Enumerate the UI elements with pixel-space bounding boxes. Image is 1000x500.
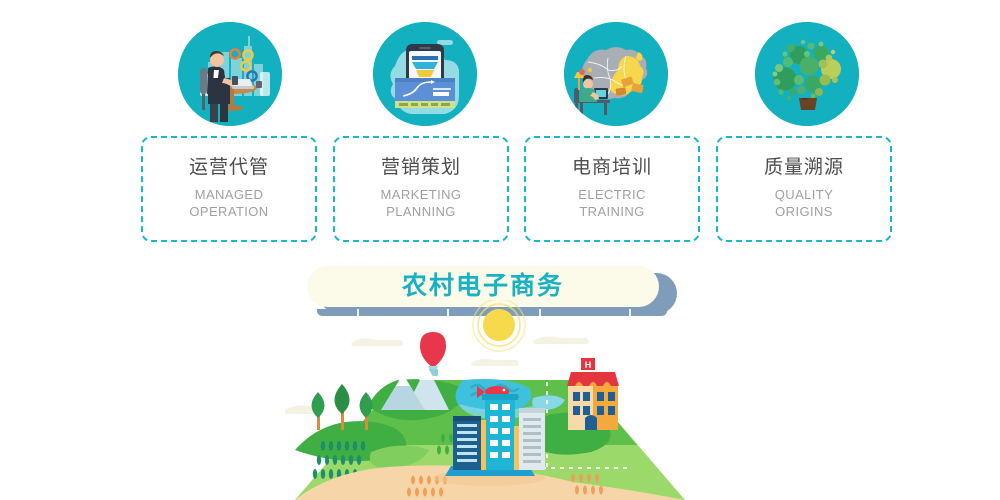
card-subtitle-line2: TRAINING: [578, 204, 646, 221]
cloud-icon: [351, 338, 403, 346]
sun-icon: [473, 300, 525, 351]
businessman-laptop-city-icon: [178, 22, 282, 126]
feature-card-electric-training[interactable]: 电商培训 ELECTRIC TRAINING: [524, 136, 700, 242]
cloud-icon: [533, 336, 589, 344]
card-title: 质量溯源: [764, 157, 844, 180]
hotel-building-icon: H: [567, 358, 619, 430]
card-subtitle-line1: ELECTRIC: [578, 187, 646, 204]
card-subtitle: QUALITY ORIGINS: [775, 187, 833, 220]
card-title: 电商培训: [572, 157, 652, 180]
feature-card-quality-origins[interactable]: 质量溯源 QUALITY ORIGINS: [716, 136, 892, 242]
card-subtitle: MARKETING PLANNING: [381, 187, 462, 220]
infographic-root: 运营代管 MANAGED OPERATION 营销策划 MARKETING PL…: [0, 0, 1000, 500]
hotel-sign-text: H: [585, 360, 592, 370]
card-subtitle-line2: OPERATION: [189, 204, 268, 221]
card-subtitle: ELECTRIC TRAINING: [578, 187, 646, 220]
china-map-desk-worker-icon: [564, 22, 668, 126]
hot-air-balloon-icon: [420, 332, 446, 376]
page-title: 农村电子商务: [402, 274, 564, 299]
feature-card-marketing-planning[interactable]: 营销策划 MARKETING PLANNING: [333, 136, 509, 242]
feature-card-managed-operation[interactable]: 运营代管 MANAGED OPERATION: [141, 136, 317, 242]
card-subtitle-line1: MANAGED: [189, 187, 268, 204]
smartphone-funnel-analytics-icon: [373, 22, 477, 126]
card-subtitle: MANAGED OPERATION: [189, 187, 268, 220]
bubble-tree-icon: [755, 22, 859, 126]
rural-landscape-illustration: H: [285, 300, 685, 500]
card-title: 营销策划: [381, 157, 461, 180]
card-subtitle-line2: ORIGINS: [775, 204, 833, 221]
card-subtitle-line1: MARKETING: [381, 187, 462, 204]
card-subtitle-line1: QUALITY: [775, 187, 833, 204]
cloud-icon: [471, 359, 519, 366]
card-subtitle-line2: PLANNING: [381, 204, 462, 221]
card-title: 运营代管: [189, 157, 269, 180]
